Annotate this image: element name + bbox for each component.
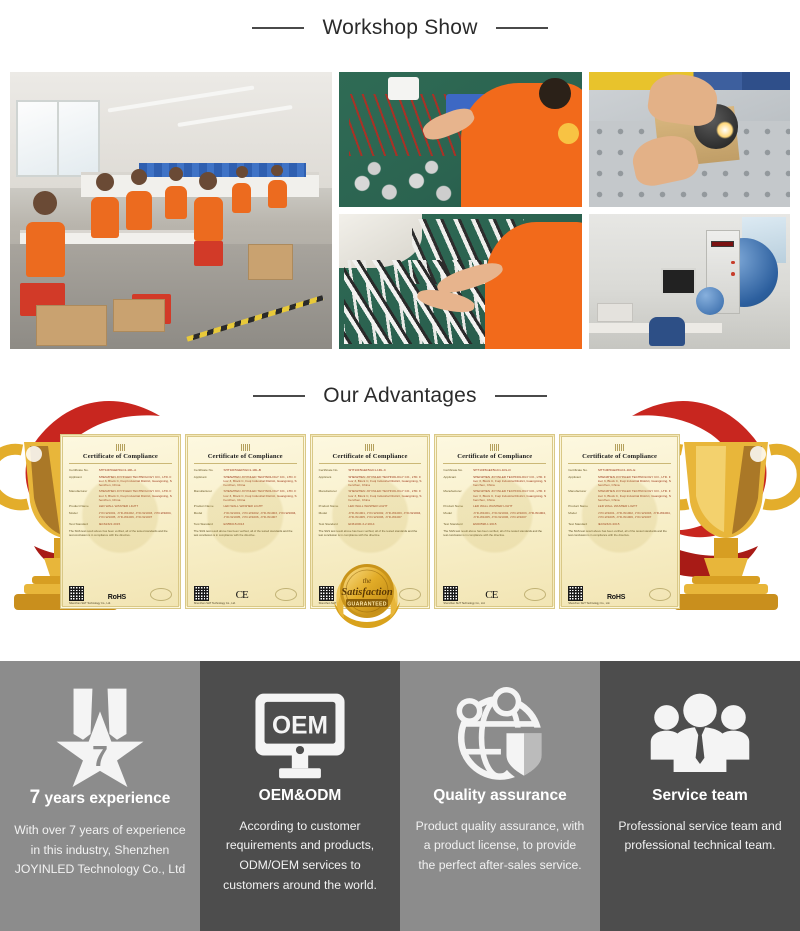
svg-text:Satisfaction: Satisfaction [341, 587, 393, 598]
signature-stamp-icon [275, 588, 297, 601]
qr-code-icon [69, 586, 84, 601]
certificate-field-key: Test Standard [69, 522, 96, 526]
certificate-field: ApplicantSHENZHEN JOYINLED TECHNOLOGY CO… [443, 475, 546, 488]
certificate-field-value: SHENZHEN JOYINLED TECHNOLOGY CO., LTD. F… [348, 475, 421, 488]
photo-detail-carton [248, 244, 293, 280]
workshop-photo-soldering-station[interactable] [339, 72, 582, 207]
certificate-field-value: IEC62321:2015 [99, 522, 172, 526]
photo-detail-chair [649, 317, 685, 347]
certificate-emblem [241, 444, 250, 451]
photo-detail-worker [232, 183, 251, 213]
certificate-card[interactable]: Certificate of Compliance Certificate No… [559, 434, 680, 609]
certificate-field-key: Product Name [69, 504, 96, 508]
feature-panel-experience[interactable]: 7 7 years experience With over 7 years o… [0, 661, 200, 931]
photo-detail-led-display [711, 241, 734, 247]
advantages-section: Our Advantages Certificate of Compliance… [0, 362, 800, 654]
certificate-field-value: EN55015:2013 [224, 522, 297, 526]
certificate-field-key: Test Standard [319, 522, 346, 526]
certificate-field-key: Model [319, 511, 346, 515]
certificate-field-key: Model [443, 511, 470, 515]
qr-code-icon [194, 586, 209, 601]
certificate-field-value: SHENZHEN JOYINLED TECHNOLOGY CO., LTD. F… [99, 475, 172, 488]
certificate-field: Test StandardEN61000-3-2:2014 [319, 522, 422, 526]
certificate-field: Test StandardEN55015:2013 [194, 522, 297, 526]
photo-detail-printer [597, 303, 633, 322]
certificate-note: The SGS test result above has been verif… [69, 529, 172, 537]
certificate-field-value: LED WALL WASHER LIGHT [473, 504, 546, 508]
signature-stamp-icon [150, 588, 172, 601]
photo-detail-shirt-logo [558, 123, 579, 144]
rohs-mark-icon: RoHS [607, 594, 625, 601]
certificate-footer: RoHS [69, 586, 172, 601]
certificate-field-value: SHENZHEN JOYINLED TECHNOLOGY CO., LTD. F… [99, 489, 172, 502]
certificate-field-value: LED WALL WASHER LIGHT [99, 504, 172, 508]
certificate-note: The SGS test result above has been verif… [443, 529, 546, 537]
certificate-footer: CE [194, 586, 297, 601]
certificate-field-key: Certificate No. [443, 468, 470, 472]
certificate-field-value: SHENZHEN JOYINLED TECHNOLOGY CO., LTD. F… [348, 489, 421, 502]
photo-detail-button [731, 272, 735, 276]
certificate-field-value: IEC62321:2015 [598, 522, 671, 526]
photo-detail-worker [126, 191, 152, 230]
photo-detail-laser-spark [716, 121, 734, 139]
certificate-field-key: Manufacturer [443, 489, 470, 493]
certificate-field-value: SHT10F5GEF5GC1-1RL-A [99, 468, 172, 472]
photo-detail-worker [194, 197, 223, 241]
certificate-field: Certificate No.SHT10F5GEF5GC1-1RL-C [319, 468, 422, 472]
feature-body: According to customer requirements and p… [214, 817, 386, 896]
certificate-field-value: SHENZHEN JOYINLED TECHNOLOGY CO., LTD. F… [224, 475, 297, 488]
certificate-field: ModelJYD-W1001, JYD-W1002, JYD-W1003, JY… [194, 511, 297, 519]
certificate-note: The SGS test result above has been verif… [194, 529, 297, 537]
certificate-field-key: Model [568, 511, 595, 515]
header-rule-right [496, 27, 548, 29]
certificate-card[interactable]: Certificate of Compliance Certificate No… [60, 434, 181, 609]
medal-star-icon: 7 [52, 683, 148, 787]
feature-icon-wrap: 7 [14, 683, 186, 787]
oem-monitor-icon-text: OEM [272, 712, 328, 739]
features-row: 7 7 years experience With over 7 years o… [0, 661, 800, 931]
certificate-title: Certificate of Compliance [319, 453, 422, 464]
feature-icon-wrap [414, 683, 586, 787]
feature-body: Product quality assurance, with a produc… [414, 817, 586, 876]
certificate-field-value: SHENZHEN JOYINLED TECHNOLOGY CO., LTD. F… [598, 489, 671, 502]
feature-title: 7 years experience [14, 787, 186, 810]
certificate-brand: Shenzhen SHT Technology Co., Ltd. [69, 602, 111, 605]
certificate-field-value: JYD-W1001, JYD-W1002, JYD-W1003, JYD-W10… [473, 511, 546, 519]
photo-detail-head [539, 78, 570, 109]
certificate-field-key: Manufacturer [319, 489, 346, 493]
certificate-field-value: LED WALL WASHER LIGHT [598, 504, 671, 508]
team-people-icon [647, 691, 753, 779]
certificate-field-key: Applicant [194, 475, 221, 479]
certificate-field-value: SHT10F5GEF5GC1-1RL-B [224, 468, 297, 472]
certificate-field: Product NameLED WALL WASHER LIGHT [194, 504, 297, 508]
certificate-title: Certificate of Compliance [69, 453, 172, 464]
certificate-field-value: JYD-W1001, JYD-W1002, JYD-W1003, JYD-W10… [598, 511, 671, 519]
photo-detail-worker [461, 83, 583, 207]
feature-panel-oem-odm[interactable]: OEM OEM&ODM According to customer requir… [200, 661, 400, 931]
certificate-field-value: JYD-W1001, JYD-W1002, JYD-W1003, JYD-W10… [224, 511, 297, 519]
svg-text:the: the [363, 577, 372, 585]
certificate-field-key: Model [69, 511, 96, 515]
globe-shield-icon [449, 687, 551, 784]
signature-stamp-icon [524, 588, 546, 601]
qr-code-icon [568, 586, 583, 601]
certificate-emblem [615, 444, 624, 451]
certificate-field-value: SHENZHEN JOYINLED TECHNOLOGY CO., LTD. F… [473, 475, 546, 488]
certificate-field: ApplicantSHENZHEN JOYINLED TECHNOLOGY CO… [319, 475, 422, 488]
certificate-field-key: Applicant [319, 475, 346, 479]
certificate-field: ApplicantSHENZHEN JOYINLED TECHNOLOGY CO… [194, 475, 297, 488]
certificate-field: Test StandardIEC62321:2015 [69, 522, 172, 526]
workshop-photo-strip-assembly[interactable] [339, 214, 582, 349]
workshop-photo-laser-marking[interactable] [589, 72, 790, 207]
feature-title: Service team [614, 787, 786, 806]
certificate-field-key: Model [194, 511, 221, 515]
certificate-field: ApplicantSHENZHEN JOYINLED TECHNOLOGY CO… [568, 475, 671, 488]
feature-title-rest: years experience [40, 790, 170, 807]
certificate-field-key: Test Standard [443, 522, 470, 526]
photo-detail-container [388, 77, 420, 100]
certificate-field-key: Test Standard [568, 522, 595, 526]
certificate-field-key: Certificate No. [319, 468, 346, 472]
certificate-field-key: Product Name [568, 504, 595, 508]
certificate-brand: Shenzhen SHT Technology Co., Ltd. [568, 602, 610, 605]
feature-title: Quality assurance [414, 787, 586, 806]
header-rule-left [253, 395, 305, 397]
certificate-field: Certificate No.SHT10F5GEF5GC1-1RL-A [69, 468, 172, 472]
certificate-field-value: SHENZHEN JOYINLED TECHNOLOGY CO., LTD. F… [473, 489, 546, 502]
photo-detail-worker [165, 186, 188, 219]
certificate-field: Certificate No.SHT10F5GEF5GC1-1RL-E [568, 468, 671, 472]
certificate-field: ModelJYD-W1001, JYD-W1002, JYD-W1003, JY… [69, 511, 172, 519]
certificate-field-value: SHENZHEN JOYINLED TECHNOLOGY CO., LTD. F… [224, 489, 297, 502]
certificate-field-key: Certificate No. [194, 468, 221, 472]
header-rule-right [495, 395, 547, 397]
photo-detail-worker [91, 197, 120, 239]
certificate-field-value: SHT10F5GEF5GC1-1RL-E [598, 468, 671, 472]
certificate-title: Certificate of Compliance [194, 453, 297, 464]
certificate-emblem [365, 444, 374, 451]
workshop-photo-testing-laboratory[interactable] [589, 214, 790, 349]
certificate-field: Test StandardIEC62321:2015 [568, 522, 671, 526]
photo-detail-worker [26, 222, 65, 277]
certificate-field-key: Manufacturer [568, 489, 595, 493]
certificate-field: Product NameLED WALL WASHER LIGHT [319, 504, 422, 508]
photo-detail-small-sphere [696, 287, 724, 315]
feature-body: Professional service team and profession… [614, 817, 786, 857]
certificate-field-value: JYD-W1001, JYD-W1002, JYD-W1003, JYD-W10… [348, 511, 421, 519]
certificate-field-key: Applicant [443, 475, 470, 479]
oem-monitor-icon: OEM [250, 690, 350, 781]
feature-icon-wrap: OEM [214, 683, 386, 787]
photo-detail-carton [113, 299, 165, 332]
certificate-field-key: Certificate No. [568, 468, 595, 472]
certificate-emblem [116, 444, 125, 451]
certificate-footer: RoHS [568, 586, 671, 601]
certificate-card[interactable]: Certificate of Compliance Certificate No… [185, 434, 306, 609]
certificate-field-key: Manufacturer [194, 489, 221, 493]
photo-detail-carton [36, 305, 107, 347]
certificate-field: Product NameLED WALL WASHER LIGHT [69, 504, 172, 508]
signature-stamp-icon [649, 588, 671, 601]
feature-panel-service-team[interactable]: Service team Professional service team a… [600, 661, 800, 931]
photo-detail-button [731, 261, 735, 265]
ce-mark-icon: CE [236, 589, 248, 601]
workshop-photo-grid [10, 72, 790, 349]
certificate-field-key: Manufacturer [69, 489, 96, 493]
certificate-footer: CE [443, 586, 546, 601]
certificate-field: ManufacturerSHENZHEN JOYINLED TECHNOLOGY… [194, 489, 297, 502]
certificate-field-value: SHENZHEN JOYINLED TECHNOLOGY CO., LTD. F… [598, 475, 671, 488]
header-rule-left [252, 27, 304, 29]
certificate-field-key: Product Name [319, 504, 346, 508]
certificate-brand: Shenzhen SHT Technology Co., Ltd. [194, 602, 236, 605]
certificate-brand: Shenzhen SHT Technology Co., Ltd. [443, 602, 485, 605]
workshop-section-header: Workshop Show [0, 16, 800, 40]
certificate-field: ApplicantSHENZHEN JOYINLED TECHNOLOGY CO… [69, 475, 172, 488]
feature-icon-wrap [614, 683, 786, 787]
certificate-title: Certificate of Compliance [568, 453, 671, 464]
certificate-field: Certificate No.SHT10F5GEF5GC1-1RL-B [194, 468, 297, 472]
certificate-field-key: Product Name [194, 504, 221, 508]
certificate-field: Product NameLED WALL WASHER LIGHT [443, 504, 546, 508]
feature-panel-quality-assurance[interactable]: Quality assurance Product quality assura… [400, 661, 600, 931]
advantages-title: Our Advantages [323, 384, 476, 408]
certificate-field-value: LED WALL WASHER LIGHT [348, 504, 421, 508]
certificate-field: ManufacturerSHENZHEN JOYINLED TECHNOLOGY… [69, 489, 172, 502]
certificate-field: ModelJYD-W1001, JYD-W1002, JYD-W1003, JY… [443, 511, 546, 519]
satisfaction-guaranteed-seal: the Satisfaction GUARANTEED [330, 558, 404, 632]
photo-detail-window [16, 100, 100, 178]
certificate-field-key: Test Standard [194, 522, 221, 526]
ce-mark-icon: CE [485, 589, 497, 601]
certificate-field-value: EN60598-1:2015 [473, 522, 546, 526]
certificate-field-value: LED WALL WASHER LIGHT [224, 504, 297, 508]
certificate-field-key: Product Name [443, 504, 470, 508]
certificate-emblem [490, 444, 499, 451]
medal-star-icon-number: 7 [92, 741, 108, 773]
certificate-field-value: SHT10F5GEF5GC1-1RL-C [348, 468, 421, 472]
certificate-field-key: Applicant [69, 475, 96, 479]
certificate-field: ManufacturerSHENZHEN JOYINLED TECHNOLOGY… [568, 489, 671, 502]
certificate-field: Test StandardEN60598-1:2015 [443, 522, 546, 526]
workshop-photo-factory-assembly-line[interactable] [10, 72, 332, 349]
certificate-field-value: JYD-W1001, JYD-W1002, JYD-W1003, JYD-W10… [99, 511, 172, 519]
rohs-mark-icon: RoHS [108, 594, 126, 601]
svg-text:GUARANTEED: GUARANTEED [347, 601, 387, 607]
certificate-card[interactable]: Certificate of Compliance Certificate No… [434, 434, 555, 609]
feature-title-number: 7 [30, 787, 41, 808]
photo-detail-worker [485, 222, 582, 349]
certificate-title: Certificate of Compliance [443, 453, 546, 464]
photo-detail-worker [268, 180, 287, 208]
certificate-note: The SGS test result above has been verif… [319, 529, 422, 537]
certificate-field: ModelJYD-W1001, JYD-W1002, JYD-W1003, JY… [568, 511, 671, 519]
certificate-note: The SGS test result above has been verif… [568, 529, 671, 537]
advantages-section-header: Our Advantages [0, 384, 800, 408]
photo-detail-monitor [661, 268, 695, 295]
certificate-field: ManufacturerSHENZHEN JOYINLED TECHNOLOGY… [443, 489, 546, 502]
certificate-field: Product NameLED WALL WASHER LIGHT [568, 504, 671, 508]
feature-body: With over 7 years of experience in this … [14, 821, 186, 880]
qr-code-icon [443, 586, 458, 601]
workshop-title: Workshop Show [322, 16, 477, 40]
certificate-field: ManufacturerSHENZHEN JOYINLED TECHNOLOGY… [319, 489, 422, 502]
certificate-field: Certificate No.SHT10F5GEF5GC1-1RL-D [443, 468, 546, 472]
photo-detail-stool [194, 241, 223, 266]
certificate-field: ModelJYD-W1001, JYD-W1002, JYD-W1003, JY… [319, 511, 422, 519]
certificate-field-key: Applicant [568, 475, 595, 479]
certificate-field-key: Certificate No. [69, 468, 96, 472]
certificate-field-value: SHT10F5GEF5GC1-1RL-D [473, 468, 546, 472]
certificate-field-value: EN61000-3-2:2014 [348, 522, 421, 526]
feature-title: OEM&ODM [214, 787, 386, 806]
